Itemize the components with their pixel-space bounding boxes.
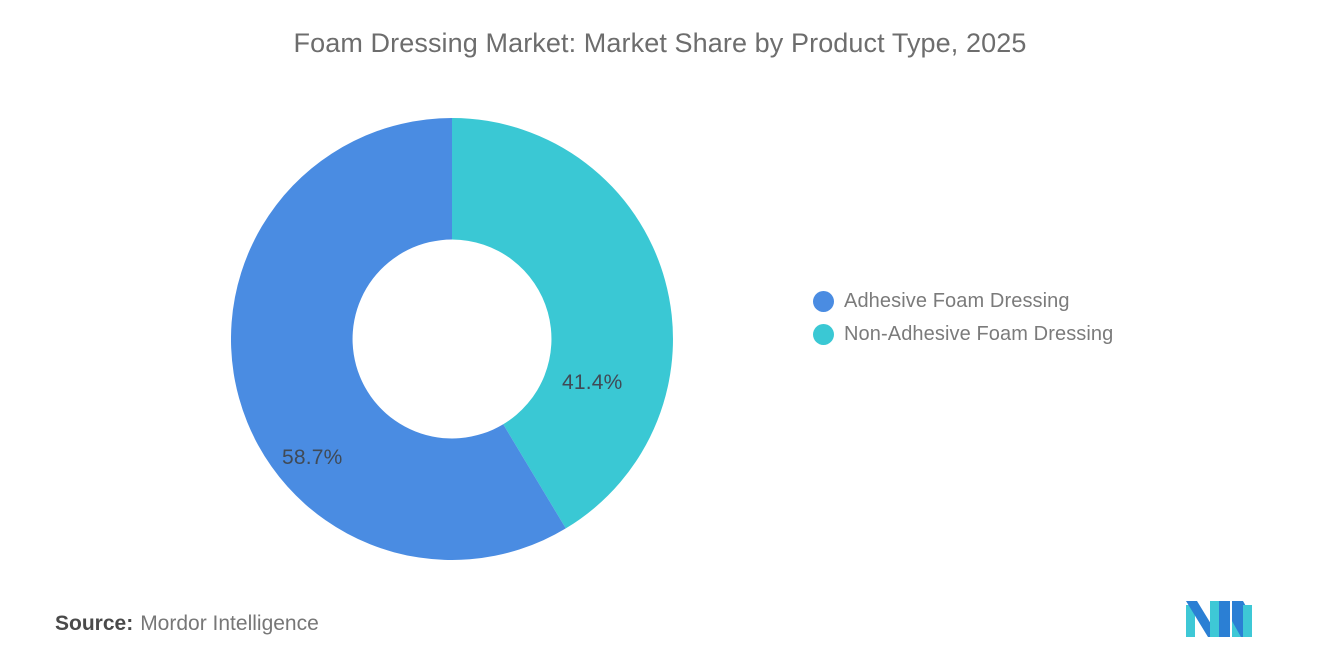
legend-item-label: Adhesive Foam Dressing bbox=[844, 290, 1070, 313]
slice-label-non-adhesive-foam-dressing: 41.4% bbox=[562, 371, 623, 395]
chart-legend: Adhesive Foam Dressing Non-Adhesive Foam… bbox=[813, 285, 1233, 351]
mordor-intelligence-logo-icon bbox=[1186, 599, 1252, 637]
source-attribution: Source:Mordor Intelligence bbox=[55, 612, 319, 636]
legend-item-non-adhesive-foam-dressing[interactable]: Non-Adhesive Foam Dressing bbox=[813, 318, 1233, 351]
legend-swatch-icon bbox=[813, 324, 834, 345]
chart-plot-area: 58.7% 41.4% bbox=[0, 88, 820, 578]
slice-label-adhesive-foam-dressing: 58.7% bbox=[282, 446, 343, 470]
page-title: Foam Dressing Market: Market Share by Pr… bbox=[0, 28, 1320, 59]
legend-swatch-icon bbox=[813, 291, 834, 312]
legend-item-label: Non-Adhesive Foam Dressing bbox=[844, 323, 1113, 346]
legend-item-adhesive-foam-dressing[interactable]: Adhesive Foam Dressing bbox=[813, 285, 1233, 318]
source-label: Source: bbox=[55, 612, 133, 635]
donut-chart bbox=[231, 118, 673, 560]
source-value: Mordor Intelligence bbox=[140, 612, 319, 635]
